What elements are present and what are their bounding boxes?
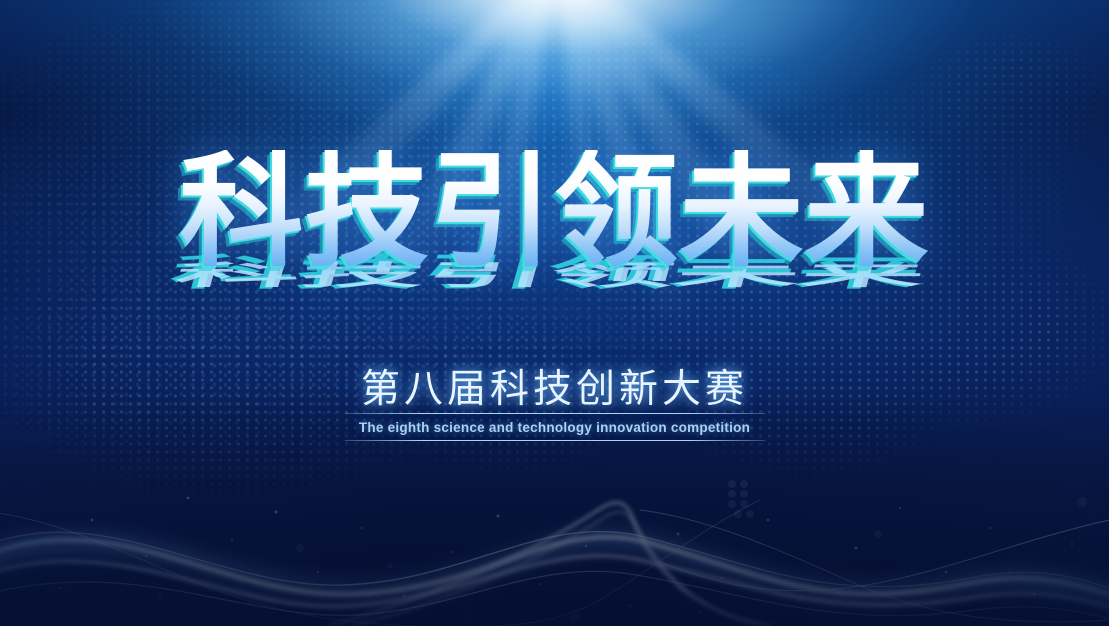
main-title-area: 科技引领未来 科技引领未来 科技引领未来 — [0, 150, 1109, 274]
divider-line-bottom — [345, 440, 765, 441]
poster-canvas: 科技引领未来 科技引领未来 科技引领未来 第八届科技创新大赛 The eight… — [0, 0, 1109, 626]
page-title: 科技引领未来 — [179, 150, 929, 274]
poster-content: 科技引领未来 科技引领未来 科技引领未来 第八届科技创新大赛 The eight… — [0, 0, 1109, 626]
event-subtitle: 第八届科技创新大赛 — [0, 358, 1109, 414]
english-tagline: The eighth science and technology innova… — [345, 414, 765, 440]
main-title-stack: 科技引领未来 科技引领未来 科技引领未来 — [179, 150, 929, 274]
tagline-block: The eighth science and technology innova… — [345, 413, 765, 441]
